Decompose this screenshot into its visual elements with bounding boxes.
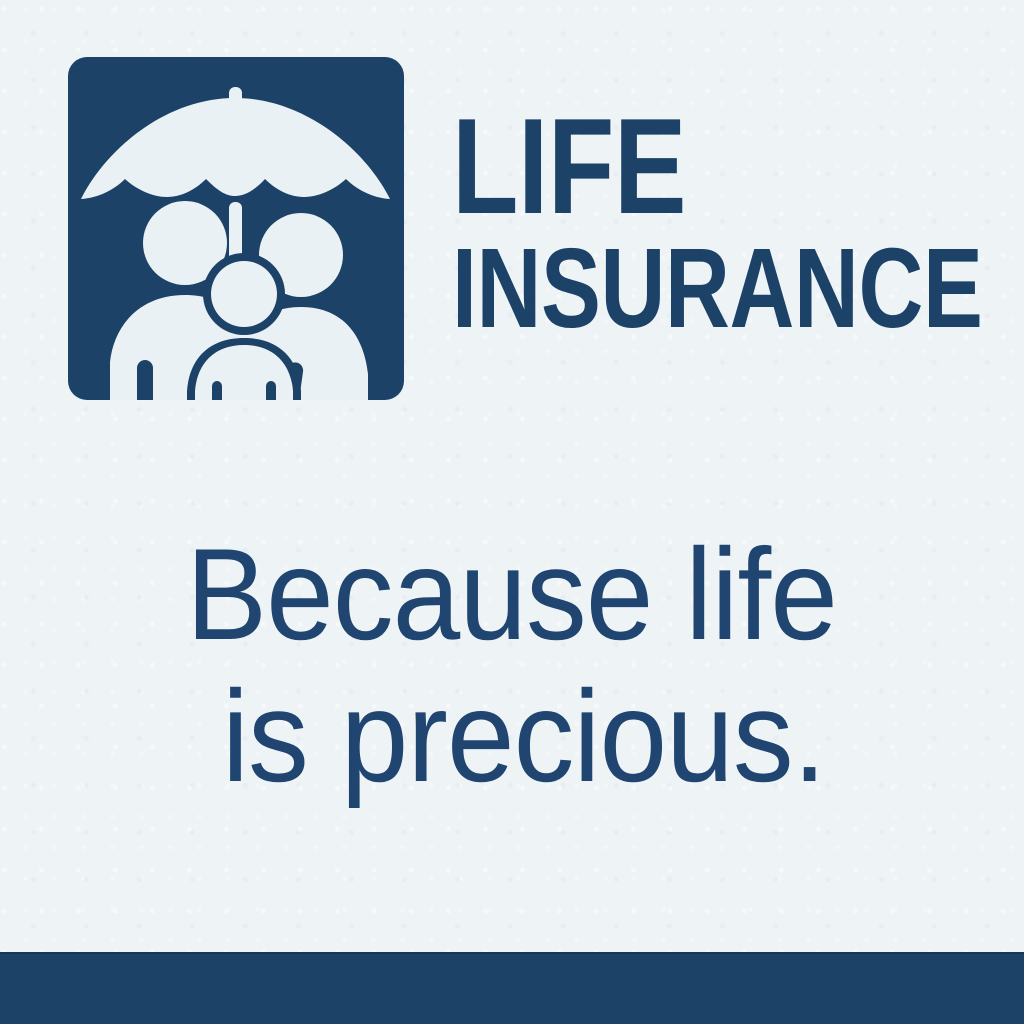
poster-canvas: LIFE INSURANCE Because life is precious. [0,0,1024,1024]
headline-line-1: LIFE [452,104,884,228]
family-under-umbrella-icon [68,57,404,400]
headline-line-2: INSURANCE [452,232,881,344]
child-head [211,261,277,327]
footer-bar [0,952,1024,1024]
tagline-line-1: Because life [186,523,841,665]
tagline: Because life is precious. [186,523,886,807]
tagline-line-2: is precious. [222,665,843,807]
page-title: LIFE INSURANCE [452,104,992,344]
umbrella-canopy [81,98,390,199]
